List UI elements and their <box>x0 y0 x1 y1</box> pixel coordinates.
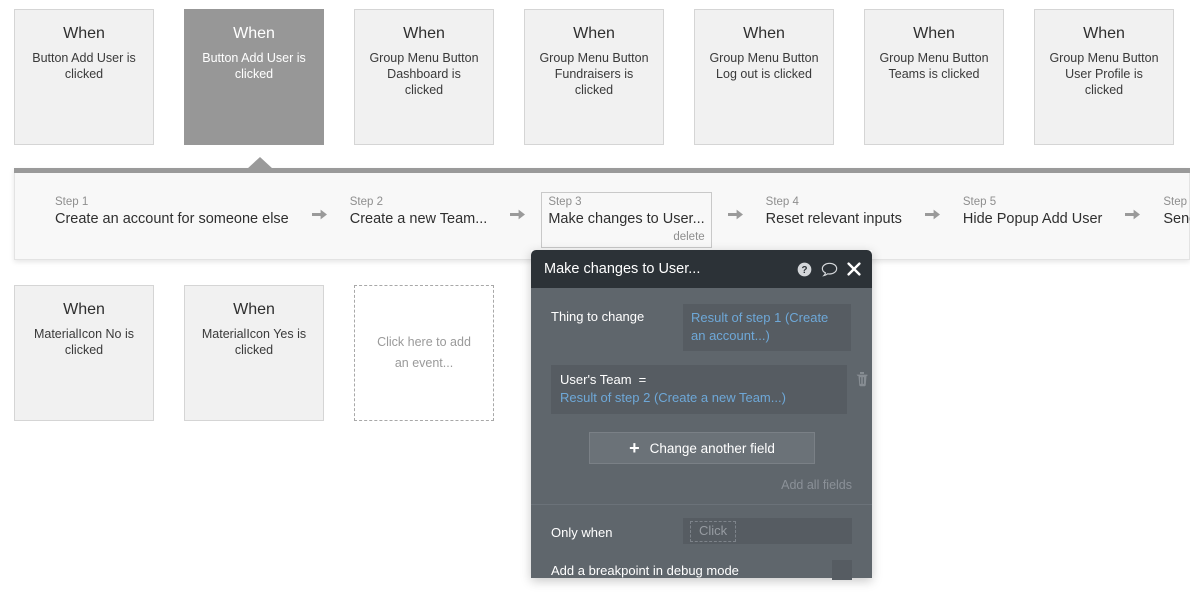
only-when-input[interactable]: Click <box>683 518 852 544</box>
event-description: Group Menu Button Log out is clicked <box>707 50 821 82</box>
field-operator: = <box>639 371 647 389</box>
event-when-label: When <box>707 24 821 44</box>
workflow-step-4[interactable]: Step 4Reset relevant inputs <box>759 192 909 233</box>
step-title: Hide Popup Add User <box>963 209 1102 230</box>
field-value: Result of step 2 (Create a new Team...) <box>560 389 838 407</box>
step-number: Step 6 <box>1163 195 1190 209</box>
thing-to-change-label: Thing to change <box>551 304 683 326</box>
event-description: MaterialIcon Yes is clicked <box>197 326 311 358</box>
field-list: User's Team=Result of step 2 (Create a n… <box>551 365 853 414</box>
help-icon[interactable]: ? <box>797 262 812 277</box>
event-card-top-5[interactable]: WhenGroup Menu Button Teams is clicked <box>864 9 1004 145</box>
event-when-label: When <box>197 300 311 320</box>
event-card-top-4[interactable]: WhenGroup Menu Button Log out is clicked <box>694 9 834 145</box>
plus-icon: + <box>629 439 640 457</box>
panel-body: Thing to change Result of step 1 (Create… <box>531 288 872 578</box>
step-arrow-icon <box>311 206 328 223</box>
event-card-top-1[interactable]: WhenButton Add User is clicked <box>184 9 324 145</box>
event-when-label: When <box>27 24 141 44</box>
step-arrow-icon <box>924 206 941 223</box>
add-all-fields-link[interactable]: Add all fields <box>531 464 872 492</box>
workflow-steps-strip: Step 1Create an account for someone else… <box>15 168 1190 260</box>
step-title: Create a new Team... <box>350 209 488 230</box>
step-number: Step 4 <box>766 195 902 209</box>
step-arrow-icon <box>1124 206 1141 223</box>
field-name: User's Team <box>560 371 632 389</box>
event-description: Group Menu Button Fundraisers is clicked <box>537 50 651 98</box>
event-when-label: When <box>1047 24 1161 44</box>
workflow-step-5[interactable]: Step 5Hide Popup Add User <box>956 192 1109 233</box>
step-number: Step 1 <box>55 195 289 209</box>
event-description: Button Add User is clicked <box>197 50 311 82</box>
workflow-step-item: Step 2Create a new Team... <box>343 192 542 233</box>
step-title: Create an account for someone else <box>55 209 289 230</box>
workflow-step-1[interactable]: Step 1Create an account for someone else <box>48 192 296 233</box>
panel-header: Make changes to User... ? <box>531 250 872 288</box>
event-card-bottom-1[interactable]: WhenMaterialIcon Yes is clicked <box>184 285 324 421</box>
event-card-top-6[interactable]: WhenGroup Menu Button User Profile is cl… <box>1034 9 1174 145</box>
workflow-step-2[interactable]: Step 2Create a new Team... <box>343 192 495 233</box>
field-change-row[interactable]: User's Team=Result of step 2 (Create a n… <box>551 365 847 414</box>
event-card-top-0[interactable]: WhenButton Add User is clicked <box>14 9 154 145</box>
step-title: Make changes to User... <box>548 209 704 230</box>
step-arrow-icon <box>509 206 526 223</box>
thing-to-change-value-text: Result of step 1 (Create an account...) <box>691 310 828 343</box>
event-when-label: When <box>367 24 481 44</box>
step-arrow-icon <box>727 206 744 223</box>
event-card-top-2[interactable]: WhenGroup Menu Button Dashboard is click… <box>354 9 494 145</box>
panel-title: Make changes to User... <box>544 261 788 277</box>
thing-to-change-value[interactable]: Result of step 1 (Create an account...) <box>683 304 851 351</box>
workflow-step-item: Step 4Reset relevant inputs <box>759 192 956 233</box>
action-property-editor: Make changes to User... ? Thing to chang… <box>531 250 872 578</box>
thing-to-change-row: Thing to change Result of step 1 (Create… <box>551 304 853 351</box>
comment-icon[interactable] <box>821 262 838 277</box>
event-when-label: When <box>537 24 651 44</box>
only-when-label: Only when <box>551 520 683 542</box>
add-event-placeholder-text: Click here to add an event... <box>371 332 477 374</box>
step-title: Reset relevant inputs <box>766 209 902 230</box>
change-another-field-button[interactable]: + Change another field <box>589 432 815 464</box>
event-row-bottom: WhenMaterialIcon No is clickedWhenMateri… <box>14 285 524 421</box>
workflow-steps-topbar <box>14 168 1190 173</box>
event-description: MaterialIcon No is clicked <box>27 326 141 358</box>
event-when-label: When <box>27 300 141 320</box>
step-number: Step 5 <box>963 195 1102 209</box>
breakpoint-checkbox[interactable] <box>832 560 852 580</box>
workflow-step-item: Step 6Send password reset email <box>1156 192 1190 233</box>
workflow-steps-panel: Step 1Create an account for someone else… <box>14 168 1190 260</box>
breakpoint-row: Add a breakpoint in debug mode <box>531 544 872 580</box>
step-number: Step 2 <box>350 195 488 209</box>
breakpoint-label: Add a breakpoint in debug mode <box>551 563 832 578</box>
event-description: Group Menu Button Dashboard is clicked <box>367 50 481 98</box>
trash-icon[interactable] <box>855 371 869 390</box>
event-row-top: WhenButton Add User is clickedWhenButton… <box>14 9 1190 145</box>
workflow-step-item: Step 5Hide Popup Add User <box>956 192 1156 233</box>
workflow-step-3[interactable]: Step 3Make changes to User...delete <box>541 192 711 248</box>
only-when-row: Only when Click <box>531 505 872 544</box>
svg-text:?: ? <box>801 265 807 276</box>
event-card-top-3[interactable]: WhenGroup Menu Button Fundraisers is cli… <box>524 9 664 145</box>
event-description: Group Menu Button Teams is clicked <box>877 50 991 82</box>
change-another-field-label: Change another field <box>650 441 775 456</box>
close-icon[interactable] <box>847 262 861 276</box>
step-delete-link[interactable]: delete <box>548 230 704 244</box>
event-when-label: When <box>197 24 311 44</box>
workflow-pointer-triangle <box>247 157 273 169</box>
only-when-placeholder: Click <box>690 521 736 542</box>
event-when-label: When <box>877 24 991 44</box>
event-description: Group Menu Button User Profile is clicke… <box>1047 50 1161 98</box>
event-card-bottom-0[interactable]: WhenMaterialIcon No is clicked <box>14 285 154 421</box>
step-number: Step 3 <box>548 195 704 209</box>
add-event-placeholder-card[interactable]: Click here to add an event... <box>354 285 494 421</box>
workflow-step-6[interactable]: Step 6Send password reset email <box>1156 192 1190 233</box>
workflow-step-item: Step 1Create an account for someone else <box>48 192 343 233</box>
step-title: Send password reset email <box>1163 209 1190 230</box>
event-description: Button Add User is clicked <box>27 50 141 82</box>
workflow-step-item: Step 3Make changes to User...delete <box>541 192 758 248</box>
panel-fields-section: Thing to change Result of step 1 (Create… <box>531 288 872 464</box>
